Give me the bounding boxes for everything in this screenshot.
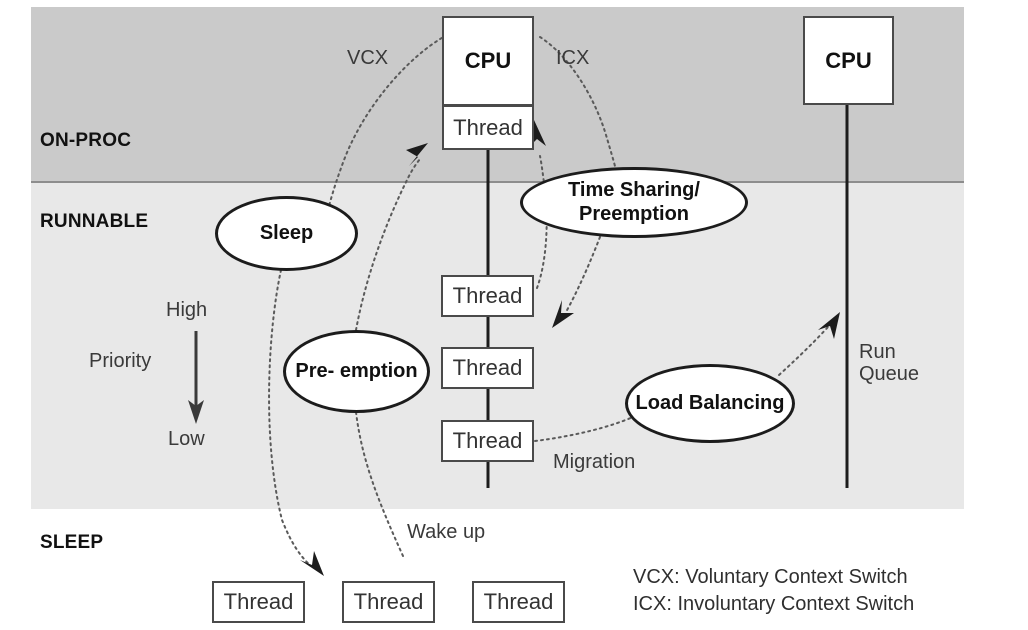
queue-thread-label-1: Thread [453, 283, 523, 309]
band-label-on-proc: ON-PROC [40, 130, 131, 151]
edge-label-vcx: VCX [347, 47, 388, 69]
edge-label-icx: ICX [556, 47, 589, 69]
queue-thread-box-3[interactable]: Thread [441, 420, 534, 462]
edge-label-run-queue: Run Queue [859, 341, 919, 386]
legend-line-vcx: VCX: Voluntary Context Switch [633, 566, 908, 588]
diagram-canvas: ON-PROC RUNNABLE SLEEP CPU Thread CPU Th… [0, 0, 1028, 630]
event-ellipse-load-balancing-label: Load Balancing [636, 392, 785, 415]
cpu-box-left-label: CPU [465, 48, 511, 74]
band-label-runnable: RUNNABLE [40, 211, 148, 232]
running-thread-box[interactable]: Thread [442, 105, 534, 150]
event-ellipse-sleep[interactable]: Sleep [215, 196, 358, 271]
priority-high-label: High [166, 299, 207, 321]
edge-sleep-arrowhead [300, 551, 324, 576]
priority-name-label: Priority [89, 350, 151, 372]
sleeping-thread-box-3[interactable]: Thread [472, 581, 565, 623]
event-ellipse-time-sharing-label: Time Sharing/ Preemption [523, 179, 745, 225]
edge-label-wake-up: Wake up [407, 521, 485, 543]
sleeping-thread-box-1[interactable]: Thread [212, 581, 305, 623]
cpu-box-right[interactable]: CPU [803, 16, 894, 105]
cpu-box-right-label: CPU [825, 48, 871, 74]
legend-line-icx: ICX: Involuntary Context Switch [633, 593, 914, 615]
queue-thread-label-2: Thread [453, 355, 523, 381]
edge-label-migration: Migration [553, 451, 635, 473]
queue-thread-label-3: Thread [453, 428, 523, 454]
sleeping-thread-label-1: Thread [224, 589, 294, 615]
priority-low-label: Low [168, 428, 205, 450]
event-ellipse-preemption-label: Pre- emption [295, 360, 417, 383]
band-label-sleep: SLEEP [40, 532, 103, 553]
event-ellipse-load-balancing[interactable]: Load Balancing [625, 364, 795, 443]
sleeping-thread-label-2: Thread [354, 589, 424, 615]
event-ellipse-time-sharing[interactable]: Time Sharing/ Preemption [520, 167, 748, 238]
event-ellipse-preemption[interactable]: Pre- emption [283, 330, 430, 413]
running-thread-label: Thread [453, 115, 523, 141]
event-ellipse-sleep-label: Sleep [260, 222, 313, 245]
queue-thread-box-2[interactable]: Thread [441, 347, 534, 389]
sleeping-thread-box-2[interactable]: Thread [342, 581, 435, 623]
sleeping-thread-label-3: Thread [484, 589, 554, 615]
cpu-box-left[interactable]: CPU [442, 16, 534, 105]
queue-thread-box-1[interactable]: Thread [441, 275, 534, 317]
